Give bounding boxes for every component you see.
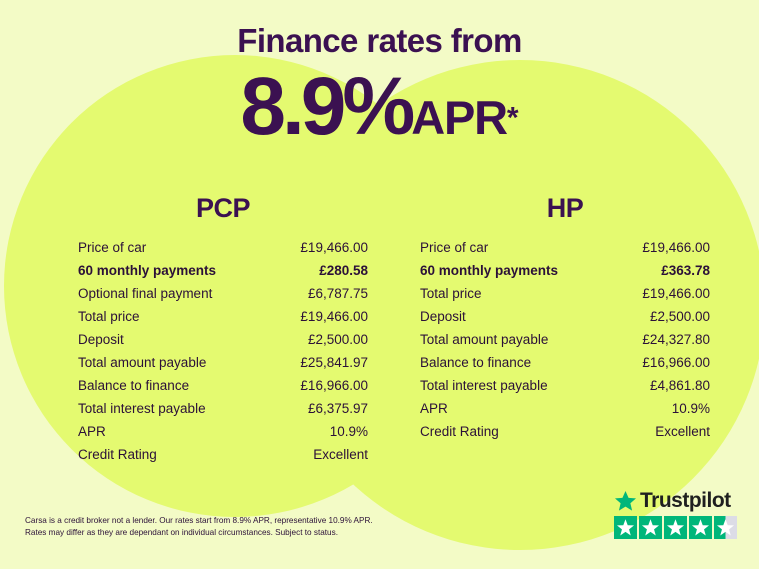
finance-row: Optional final payment£6,787.75 [78, 286, 368, 309]
finance-row-label: Total price [420, 286, 482, 301]
finance-row: 60 monthly payments£363.78 [420, 263, 710, 286]
panel-title-pcp: PCP [78, 193, 368, 224]
finance-row: Total price£19,466.00 [420, 286, 710, 309]
finance-row: Deposit£2,500.00 [420, 309, 710, 332]
finance-row-value: £2,500.00 [650, 309, 710, 324]
finance-row-label: Price of car [78, 240, 146, 255]
finance-row-value: £19,466.00 [642, 286, 710, 301]
finance-row: APR10.9% [420, 401, 710, 424]
finance-row: Price of car£19,466.00 [420, 240, 710, 263]
finance-row-value: £16,966.00 [300, 378, 368, 393]
finance-row-label: Total amount payable [420, 332, 548, 347]
finance-row-label: Total interest payable [420, 378, 548, 393]
trustpilot-star-cell [639, 516, 662, 539]
trustpilot-star-icon [614, 490, 637, 512]
finance-row-label: 60 monthly payments [78, 263, 216, 278]
trustpilot-star-rating [614, 516, 744, 539]
finance-row: Total interest payable£4,861.80 [420, 378, 710, 401]
disclaimer-line-2: Rates may differ as they are dependant o… [25, 527, 445, 539]
panel-title-hp: HP [420, 193, 710, 224]
finance-row-label: Optional final payment [78, 286, 212, 301]
finance-row-value: £6,787.75 [308, 286, 368, 301]
finance-row: Credit RatingExcellent [420, 424, 710, 447]
finance-row: Total price£19,466.00 [78, 309, 368, 332]
finance-row-value: £363.78 [661, 263, 710, 278]
finance-row-value: £24,327.80 [642, 332, 710, 347]
finance-row: Balance to finance£16,966.00 [420, 355, 710, 378]
finance-row-label: Total price [78, 309, 140, 324]
finance-row: APR10.9% [78, 424, 368, 447]
trustpilot-star-cell [714, 516, 737, 539]
finance-rows-hp: Price of car£19,466.0060 monthly payment… [420, 240, 710, 447]
finance-row-label: Credit Rating [78, 447, 157, 462]
trustpilot-star-cell [689, 516, 712, 539]
finance-row-value: £19,466.00 [300, 309, 368, 324]
finance-row: 60 monthly payments£280.58 [78, 263, 368, 286]
trustpilot-star-cell [664, 516, 687, 539]
disclaimer-text: Carsa is a credit broker not a lender. O… [25, 515, 445, 539]
disclaimer-line-1: Carsa is a credit broker not a lender. O… [25, 515, 445, 527]
hero-rate: 8.9%APR* [0, 60, 759, 154]
finance-row-value: £19,466.00 [300, 240, 368, 255]
finance-row-value: £25,841.97 [300, 355, 368, 370]
finance-row-value: £4,861.80 [650, 378, 710, 393]
finance-row: Balance to finance£16,966.00 [78, 378, 368, 401]
finance-panel-hp: HP Price of car£19,466.0060 monthly paym… [420, 193, 710, 447]
finance-row: Deposit£2,500.00 [78, 332, 368, 355]
finance-row-label: Price of car [420, 240, 488, 255]
finance-row-value: Excellent [313, 447, 368, 462]
trustpilot-logo[interactable]: Trustpilot [614, 489, 744, 539]
finance-row-label: 60 monthly payments [420, 263, 558, 278]
trustpilot-star-cell [614, 516, 637, 539]
finance-row: Total amount payable£24,327.80 [420, 332, 710, 355]
finance-row-label: Total interest payable [78, 401, 206, 416]
hero-asterisk: * [507, 102, 519, 135]
finance-row: Price of car£19,466.00 [78, 240, 368, 263]
hero-rate-value: 8.9% [240, 61, 411, 152]
finance-row-label: Total amount payable [78, 355, 206, 370]
finance-row: Credit RatingExcellent [78, 447, 368, 470]
finance-row-value: Excellent [655, 424, 710, 439]
trustpilot-name: Trustpilot [640, 489, 731, 513]
finance-row-value: 10.9% [330, 424, 368, 439]
finance-rows-pcp: Price of car£19,466.0060 monthly payment… [78, 240, 368, 470]
finance-row-label: Balance to finance [78, 378, 189, 393]
finance-row: Total amount payable£25,841.97 [78, 355, 368, 378]
finance-row-label: Credit Rating [420, 424, 499, 439]
finance-panel-pcp: PCP Price of car£19,466.0060 monthly pay… [78, 193, 368, 470]
finance-row-value: £6,375.97 [308, 401, 368, 416]
finance-row-value: 10.9% [672, 401, 710, 416]
finance-row-value: £2,500.00 [308, 332, 368, 347]
trustpilot-wordmark: Trustpilot [614, 489, 744, 513]
finance-row-label: APR [420, 401, 448, 416]
finance-row-value: £280.58 [319, 263, 368, 278]
finance-row-label: APR [78, 424, 106, 439]
hero-rate-unit: APR [411, 91, 507, 144]
finance-row-label: Balance to finance [420, 355, 531, 370]
finance-row: Total interest payable£6,375.97 [78, 401, 368, 424]
finance-row-label: Deposit [78, 332, 124, 347]
finance-row-label: Deposit [420, 309, 466, 324]
finance-row-value: £16,966.00 [642, 355, 710, 370]
finance-row-value: £19,466.00 [642, 240, 710, 255]
page-title: Finance rates from [0, 22, 759, 60]
